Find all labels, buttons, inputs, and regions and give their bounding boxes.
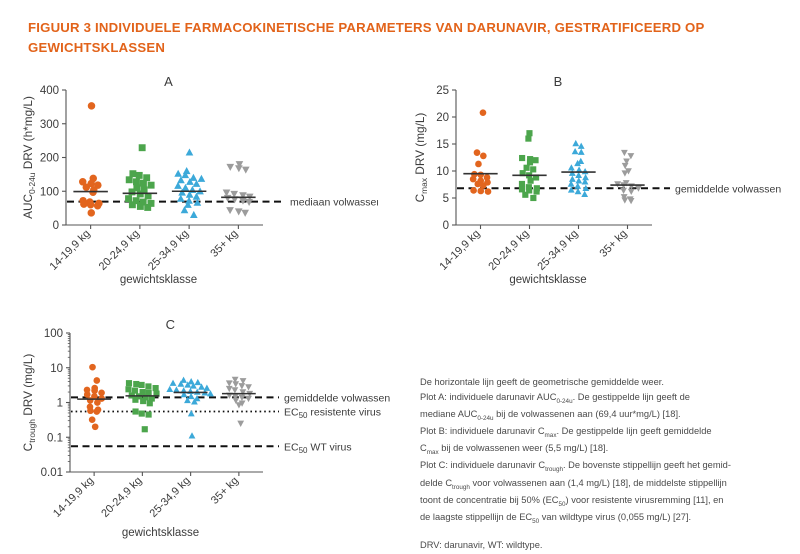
series-1	[470, 109, 492, 194]
y-tick-label: 1	[57, 398, 63, 410]
data-point	[94, 399, 101, 406]
data-point	[519, 186, 525, 192]
data-point	[519, 155, 525, 161]
data-point	[226, 164, 234, 171]
data-point	[628, 198, 635, 204]
data-point	[189, 432, 196, 438]
data-point	[174, 170, 182, 177]
data-point	[129, 188, 136, 195]
data-point	[91, 387, 98, 394]
data-point	[242, 167, 250, 174]
data-point	[235, 208, 243, 215]
data-point	[572, 140, 579, 146]
data-point	[190, 211, 198, 218]
data-point	[620, 188, 627, 194]
data-point	[621, 170, 628, 176]
y-tick-label: 0.01	[41, 467, 63, 479]
data-point	[528, 178, 534, 184]
y-axis-label: AUC0-24u DRV (h*mg/L)	[21, 96, 37, 219]
x-tick-label-2: 20-24,9 kg	[486, 228, 531, 273]
data-point	[87, 397, 94, 404]
data-point	[207, 390, 214, 396]
y-axis-label: Cmax DRV (mg/L)	[413, 113, 429, 203]
data-point	[80, 200, 87, 207]
series-1	[79, 102, 103, 216]
data-point	[575, 177, 582, 183]
y-tick-label: 100	[40, 186, 59, 198]
data-point	[628, 189, 635, 195]
data-point	[522, 192, 528, 198]
data-point	[88, 102, 95, 109]
caption-line-3: Plot C: individuele darunavir Ctrough. D…	[420, 458, 790, 526]
data-point	[133, 178, 140, 185]
y-tick-label: 10	[436, 166, 449, 178]
x-tick-label-4: 35+ kg	[209, 475, 241, 507]
panel-letter: A	[164, 74, 173, 89]
data-point	[136, 172, 143, 179]
data-point	[133, 381, 139, 387]
data-point	[139, 144, 146, 151]
data-point	[237, 421, 244, 427]
data-point	[534, 188, 540, 194]
figure-caption: De horizontale lijn geeft de geometrisch…	[420, 375, 790, 553]
series-2	[125, 144, 154, 211]
panel-letter: C	[166, 317, 175, 332]
series-1	[84, 364, 105, 430]
data-point	[126, 176, 133, 183]
data-point	[183, 167, 191, 174]
y-axis-label: Ctrough DRV (mg/L)	[21, 354, 37, 452]
plot-c: 0.010.1110100gemiddelde volwassenEC50 re…	[18, 315, 418, 540]
data-point	[578, 149, 585, 155]
data-point	[146, 411, 152, 417]
data-point	[530, 195, 536, 201]
x-tick-label-1: 14-19,9 kg	[437, 228, 482, 273]
data-point	[574, 183, 581, 189]
data-point	[89, 416, 96, 423]
data-point	[144, 204, 151, 211]
series-2	[519, 130, 540, 201]
data-point	[188, 410, 195, 416]
data-point	[480, 109, 487, 116]
data-point	[98, 389, 105, 396]
caption-line-1: Plot A: individuele darunavir AUC0-24u. …	[420, 390, 790, 424]
x-tick-label-1: 14-19,9 kg	[48, 228, 93, 273]
data-point	[166, 386, 173, 392]
data-point	[145, 383, 151, 389]
data-point	[140, 398, 146, 404]
data-point	[530, 166, 536, 172]
series-4	[226, 377, 253, 427]
data-point	[480, 153, 487, 160]
series-2	[125, 380, 159, 432]
data-point	[622, 163, 629, 169]
caption-line-2: Plot B: individuele darunavir Cmax. De g…	[420, 424, 790, 458]
data-point	[129, 170, 136, 177]
data-point	[88, 209, 95, 216]
y-tick-label: 100	[44, 328, 63, 340]
y-tick-label: 0	[443, 220, 449, 232]
data-point	[87, 407, 94, 414]
data-point	[139, 382, 145, 388]
data-point	[572, 148, 579, 154]
x-tick-label-3: 25-34,9 kg	[535, 228, 580, 273]
series-3	[568, 140, 590, 197]
data-point	[93, 377, 100, 384]
data-point	[527, 159, 533, 165]
plot-b: 0510152025gemiddelde volwassen14-19,9 kg…	[410, 72, 792, 287]
data-point	[524, 165, 530, 171]
caption-line-0: De horizontale lijn geeft de geometrisch…	[420, 375, 790, 390]
data-point	[142, 426, 148, 432]
y-tick-label: 400	[40, 85, 59, 97]
data-point	[83, 183, 90, 190]
series-3	[174, 148, 205, 217]
data-point	[526, 130, 532, 136]
data-point	[148, 182, 155, 189]
panel-b: 0510152025gemiddelde volwassen14-19,9 kg…	[410, 72, 792, 287]
data-point	[568, 164, 575, 170]
data-point	[470, 176, 477, 183]
data-point	[519, 181, 525, 187]
series-3	[166, 377, 213, 439]
data-point	[627, 153, 634, 159]
data-point	[235, 165, 243, 172]
y-tick-label: 200	[40, 153, 59, 165]
x-axis-label: gewichtsklasse	[509, 274, 586, 286]
data-point	[569, 176, 576, 182]
x-tick-label-2: 20-24,9 kg	[97, 228, 142, 273]
y-tick-label: 15	[436, 139, 449, 151]
data-point	[94, 202, 101, 209]
data-point	[232, 381, 239, 387]
series-4	[614, 150, 642, 204]
data-point	[241, 210, 249, 217]
reference-line-label-0: gemiddelde volwassen	[675, 183, 781, 195]
reference-line-label-1: EC50 resistente virus	[284, 407, 381, 421]
x-tick-label-1: 14-19,9 kg	[51, 475, 96, 520]
caption-abbreviations: DRV: darunavir, WT: wildtype.	[420, 538, 790, 553]
data-point	[474, 149, 481, 156]
data-point	[485, 188, 492, 195]
y-tick-label: 5	[443, 193, 449, 205]
data-point	[194, 379, 201, 385]
data-point	[125, 386, 131, 392]
x-tick-label-4: 35+ kg	[598, 228, 630, 260]
y-tick-label: 25	[436, 85, 449, 97]
data-point	[477, 171, 484, 178]
data-point	[92, 423, 99, 430]
data-point	[139, 411, 145, 417]
data-point	[238, 383, 245, 389]
data-point	[84, 391, 91, 398]
data-point	[475, 161, 482, 168]
data-point	[231, 387, 238, 393]
data-point	[226, 207, 234, 214]
panel-c: 0.010.1110100gemiddelde volwassenEC50 re…	[18, 315, 418, 540]
data-point	[89, 364, 96, 371]
data-point	[147, 400, 153, 406]
data-point	[239, 389, 246, 395]
panel-a: 0100200300400mediaan volwassen14-19,9 kg…	[18, 72, 378, 287]
data-point	[132, 408, 138, 414]
data-point	[153, 385, 159, 391]
series-4	[223, 161, 254, 217]
y-tick-label: 0	[53, 220, 59, 232]
figure-title: FIGUUR 3 INDIVIDUELE FARMACOKINETISCHE P…	[28, 18, 778, 59]
data-point	[245, 396, 252, 402]
data-point	[470, 187, 477, 194]
reference-line-label-0: mediaan volwassen	[290, 197, 378, 209]
data-point	[125, 195, 132, 202]
data-point	[132, 397, 138, 403]
y-tick-label: 0.1	[47, 432, 63, 444]
data-point	[129, 201, 136, 208]
data-point	[177, 195, 185, 202]
x-tick-label-4: 35+ kg	[208, 228, 240, 260]
panel-letter: B	[554, 74, 563, 89]
x-tick-label-2: 20-24,9 kg	[99, 475, 144, 520]
y-tick-label: 20	[436, 112, 449, 124]
data-point	[532, 157, 538, 163]
x-axis-label: gewichtsklasse	[122, 527, 199, 539]
data-point	[170, 380, 177, 386]
data-point	[226, 380, 233, 386]
reference-line-label-0: gemiddelde volwassen	[284, 392, 390, 404]
data-point	[226, 386, 233, 392]
reference-line-label-2: EC50 WT virus	[284, 441, 352, 455]
plot-a: 0100200300400mediaan volwassen14-19,9 kg…	[18, 72, 378, 287]
x-axis-label: gewichtsklasse	[120, 274, 197, 286]
data-point	[93, 408, 100, 415]
data-point	[87, 201, 94, 208]
y-tick-label: 300	[40, 119, 59, 131]
data-point	[140, 180, 147, 187]
data-point	[621, 150, 628, 156]
data-point	[245, 384, 252, 390]
data-point	[198, 175, 206, 182]
data-point	[621, 197, 628, 203]
data-point	[477, 188, 484, 195]
data-point	[525, 136, 531, 142]
x-tick-label-3: 25-34,9 kg	[146, 228, 191, 273]
x-tick-label-3: 25-34,9 kg	[148, 475, 193, 520]
data-point	[581, 191, 588, 197]
data-point	[137, 203, 144, 210]
data-point	[582, 168, 589, 174]
data-point	[186, 148, 194, 155]
data-point	[126, 380, 132, 386]
data-point	[185, 197, 193, 204]
y-tick-label: 10	[50, 363, 63, 375]
